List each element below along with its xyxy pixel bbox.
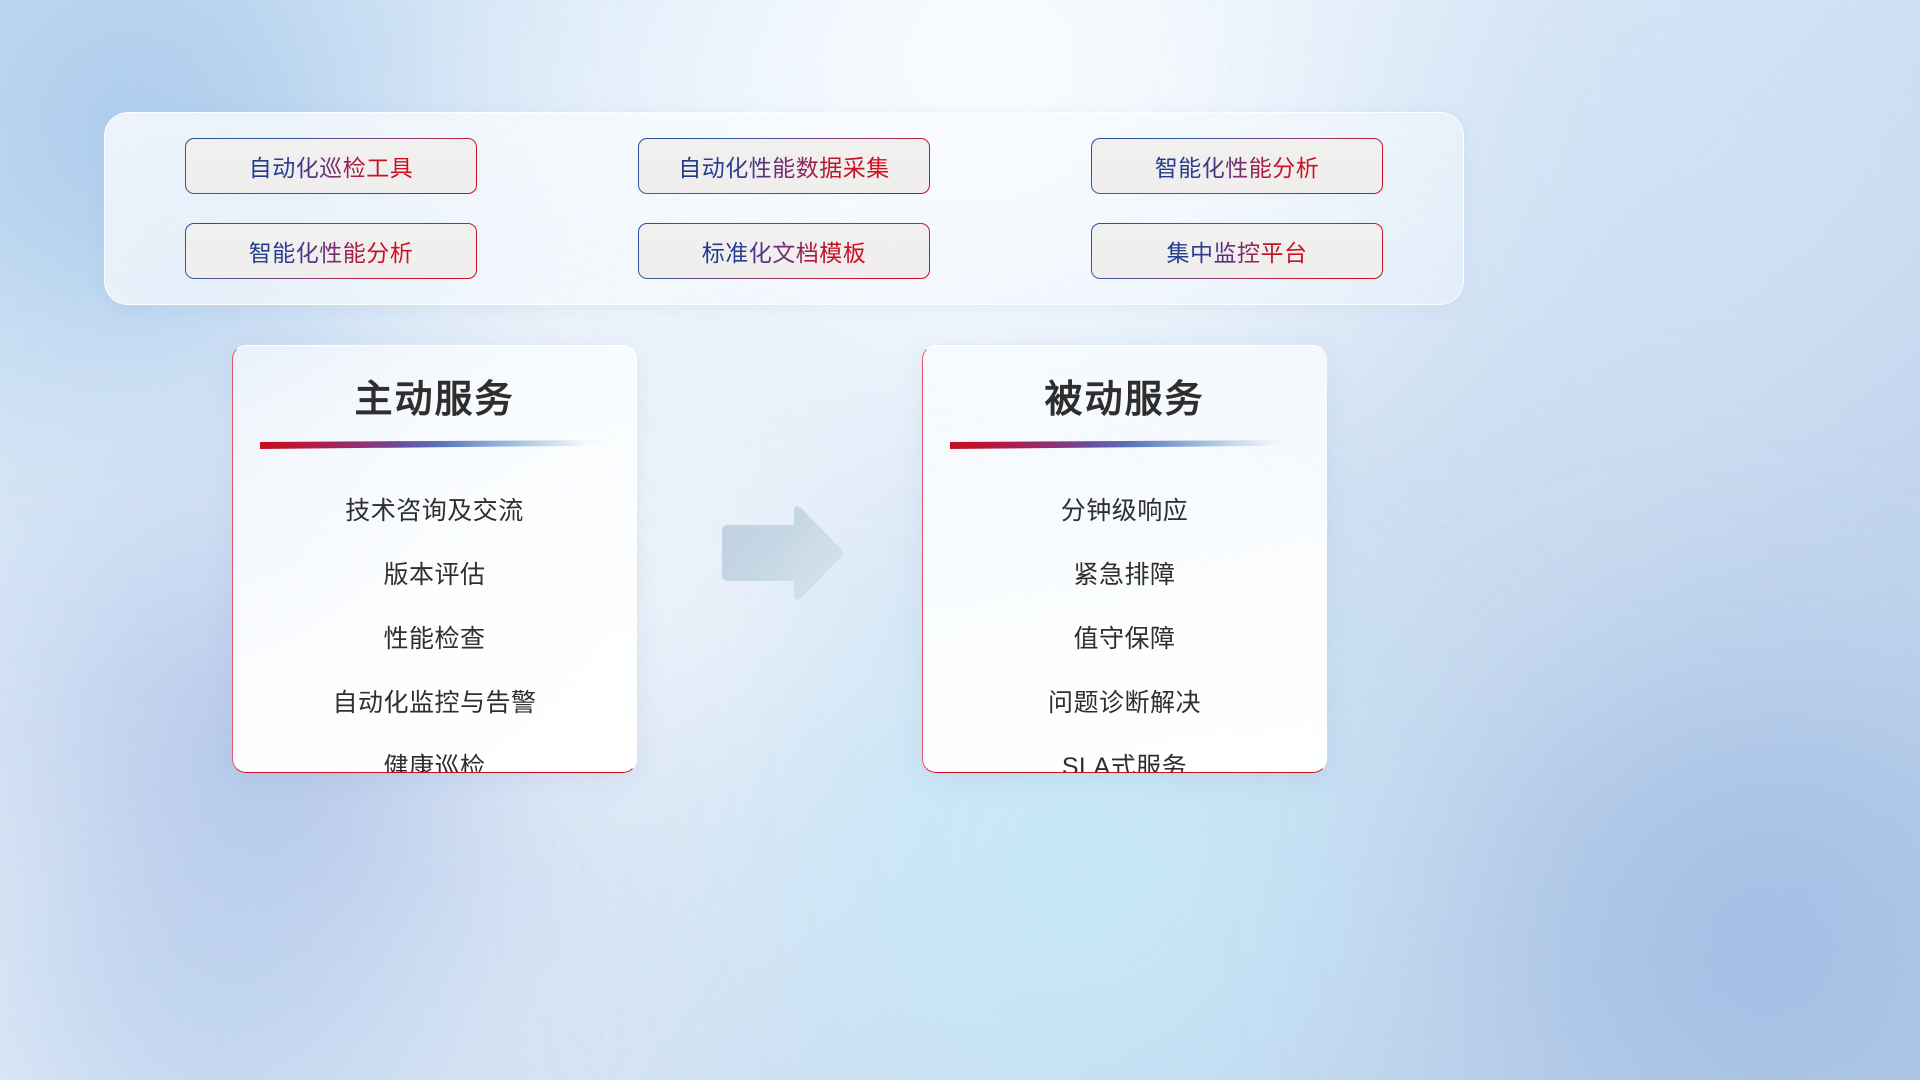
slide-canvas: 自动化巡检工具 自动化性能数据采集 智能化性能分析 智能化性能分析 标准化文档模… <box>0 0 1920 1080</box>
list-item: 问题诊断解决 <box>923 669 1326 733</box>
capability-pill-automated-performance-data-collection[interactable]: 自动化性能数据采集 <box>638 138 930 194</box>
card-item-list: 技术咨询及交流 版本评估 性能检查 自动化监控与告警 健康巡检 <box>233 477 636 773</box>
background-glow-lower-right <box>1350 620 1920 1080</box>
divider-gradient-bar <box>950 440 1300 449</box>
card-title: 主动服务 <box>233 368 636 423</box>
capability-pill-label: 集中监控平台 <box>1167 234 1308 268</box>
list-item: 健康巡检 <box>233 733 636 773</box>
list-item: 紧急排障 <box>923 541 1326 605</box>
capability-row-1: 自动化巡检工具 自动化性能数据采集 智能化性能分析 <box>185 138 1383 194</box>
capability-pill-label: 标准化文档模板 <box>702 234 867 268</box>
service-card-proactive[interactable]: 主动服务 技术咨询及交流 版本评估 性能检查 自动化监控与告警 健康巡检 <box>232 345 637 773</box>
capability-pill-label: 智能化性能分析 <box>1155 149 1320 183</box>
list-item: 自动化监控与告警 <box>233 669 636 733</box>
card-divider <box>950 440 1300 450</box>
background-glow-bottom-left <box>0 820 580 1080</box>
capability-pill-label: 自动化巡检工具 <box>249 149 414 183</box>
card-title: 被动服务 <box>923 368 1326 423</box>
capability-pill-intelligent-performance-analysis-top[interactable]: 智能化性能分析 <box>1091 138 1383 194</box>
capability-pill-label: 自动化性能数据采集 <box>678 149 890 183</box>
capability-pill-intelligent-performance-analysis-bottom[interactable]: 智能化性能分析 <box>185 223 477 279</box>
list-item: 技术咨询及交流 <box>233 477 636 541</box>
card-item-list: 分钟级响应 紧急排障 值守保障 问题诊断解决 SLA式服务 <box>923 477 1326 773</box>
arrow-right-icon <box>716 503 848 603</box>
capability-pill-label: 智能化性能分析 <box>249 234 414 268</box>
capabilities-panel: 自动化巡检工具 自动化性能数据采集 智能化性能分析 智能化性能分析 标准化文档模… <box>104 112 1464 305</box>
card-divider <box>260 440 610 450</box>
capability-row-2: 智能化性能分析 标准化文档模板 集中监控平台 <box>185 223 1383 279</box>
list-item: 分钟级响应 <box>923 477 1326 541</box>
list-item: SLA式服务 <box>923 733 1326 773</box>
list-item: 值守保障 <box>923 605 1326 669</box>
service-card-reactive[interactable]: 被动服务 分钟级响应 紧急排障 值守保障 问题诊断解决 SLA式服务 <box>922 345 1327 773</box>
list-item: 性能检查 <box>233 605 636 669</box>
divider-gradient-bar <box>260 440 610 449</box>
list-item: 版本评估 <box>233 541 636 605</box>
capability-pill-standardized-document-template[interactable]: 标准化文档模板 <box>638 223 930 279</box>
capability-pill-automated-inspection-tool[interactable]: 自动化巡检工具 <box>185 138 477 194</box>
capability-pill-centralized-monitoring-platform[interactable]: 集中监控平台 <box>1091 223 1383 279</box>
